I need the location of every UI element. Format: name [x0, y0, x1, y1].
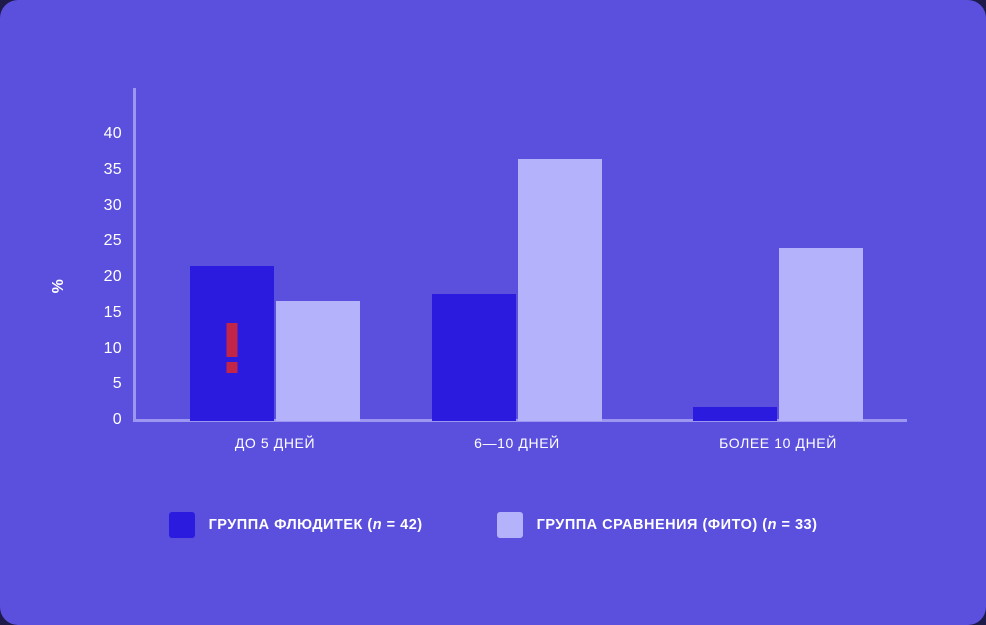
- plot-area: % 0510152025303540 ДО 5 ДНЕЙ6—10 ДНЕЙБОЛ…: [0, 0, 986, 470]
- legend-label: ГРУППА СРАВНЕНИЯ (ФИТО) (n = 33): [537, 517, 818, 533]
- bar-fluditec-1: [432, 294, 516, 421]
- bar-comparison-1: [518, 159, 602, 421]
- bar-fluditec-0: [190, 266, 274, 421]
- bar-fluditec-2: [693, 407, 777, 421]
- legend-label: ГРУППА ФЛЮДИТЕК (n = 42): [209, 517, 423, 533]
- bar-comparison-0: [276, 301, 360, 421]
- exclamation-mark-icon: [227, 323, 238, 373]
- chart-canvas: % 0510152025303540 ДО 5 ДНЕЙ6—10 ДНЕЙБОЛ…: [0, 0, 986, 625]
- exclamation-stem: [227, 323, 238, 357]
- legend-swatch-light: [497, 512, 523, 538]
- legend-series-name: ГРУППА ФЛЮДИТЕК: [209, 517, 368, 533]
- legend-item-0[interactable]: ГРУППА ФЛЮДИТЕК (n = 42): [169, 512, 423, 538]
- x-axis-category-label: 6—10 ДНЕЙ: [474, 435, 560, 451]
- legend-series-name: ГРУППА СРАВНЕНИЯ (ФИТО): [537, 517, 763, 533]
- legend-swatch-dark: [169, 512, 195, 538]
- legend-item-1[interactable]: ГРУППА СРАВНЕНИЯ (ФИТО) (n = 33): [497, 512, 818, 538]
- bar-series-group: [0, 0, 986, 470]
- chart-legend: ГРУППА ФЛЮДИТЕК (n = 42)ГРУППА СРАВНЕНИЯ…: [0, 512, 986, 538]
- exclamation-dot: [227, 362, 238, 373]
- legend-sample-size: (n = 33): [762, 517, 817, 533]
- x-axis-category-label: БОЛЕЕ 10 ДНЕЙ: [719, 435, 837, 451]
- legend-sample-size: (n = 42): [367, 517, 422, 533]
- bar-comparison-2: [779, 248, 863, 421]
- x-axis-category-label: ДО 5 ДНЕЙ: [235, 435, 315, 451]
